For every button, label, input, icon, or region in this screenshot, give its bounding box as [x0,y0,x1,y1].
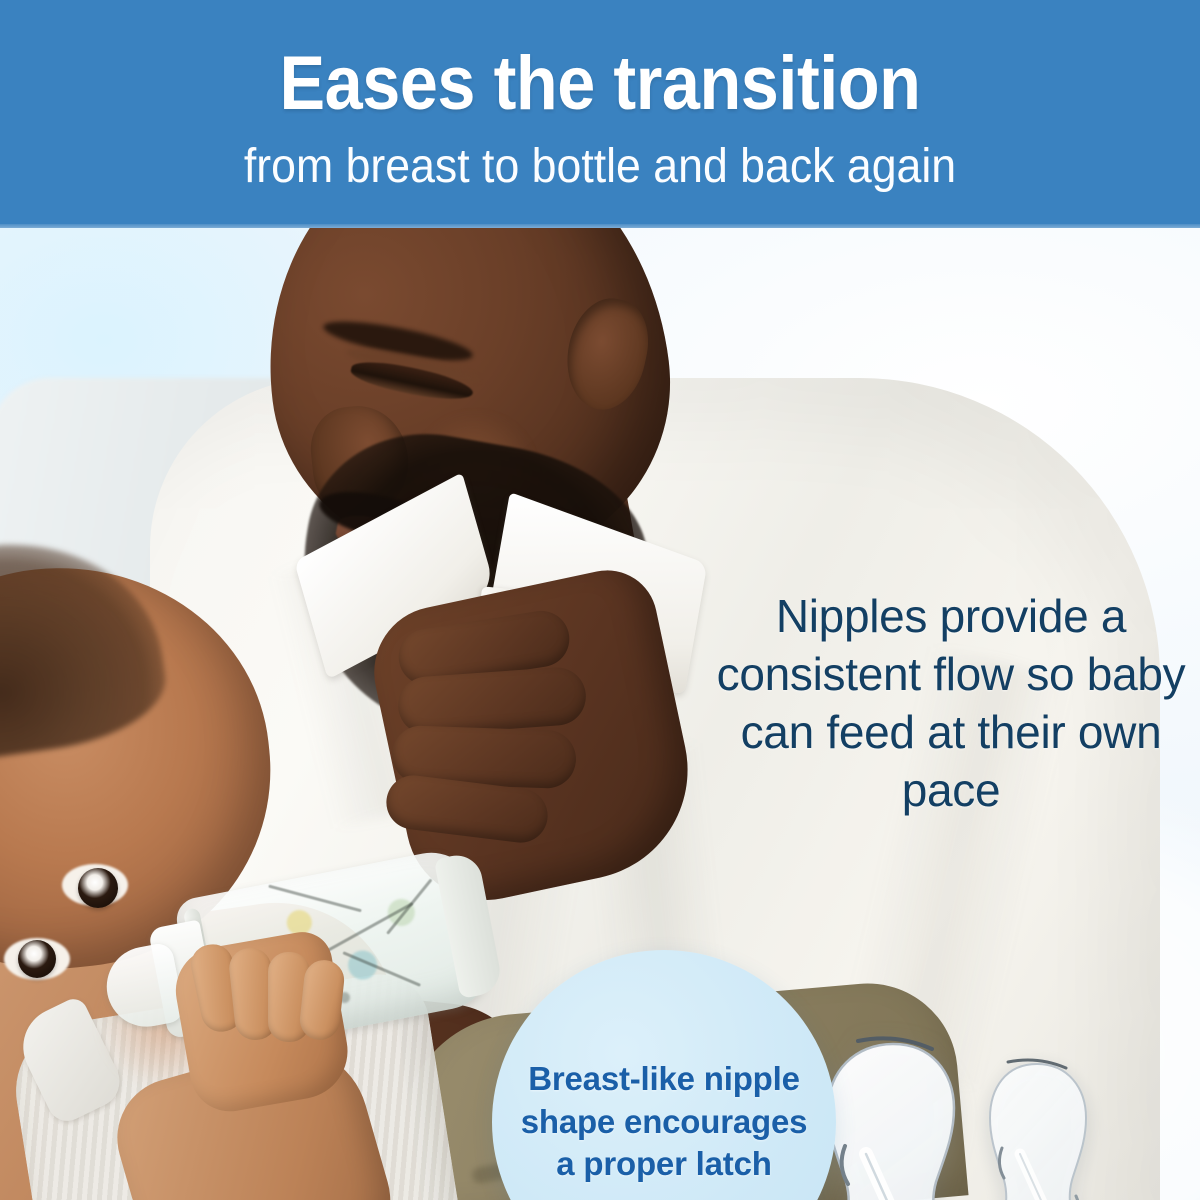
banner-title: Eases the transition [60,46,1140,122]
baby-eye [18,940,56,978]
product-feature-panel: Eases the transition from breast to bott… [0,0,1200,1200]
banner-subtitle: from breast to bottle and back again [42,143,1158,191]
baby-eye [78,868,118,908]
feature-copy-text: Nipples provide a consistent flow so bab… [712,588,1190,820]
callout-text: Breast-like nipple shape encourages a pr… [492,1058,836,1187]
header-banner: Eases the transition from breast to bott… [0,0,1200,228]
lifestyle-photo: 1 1 [0,228,1200,1200]
